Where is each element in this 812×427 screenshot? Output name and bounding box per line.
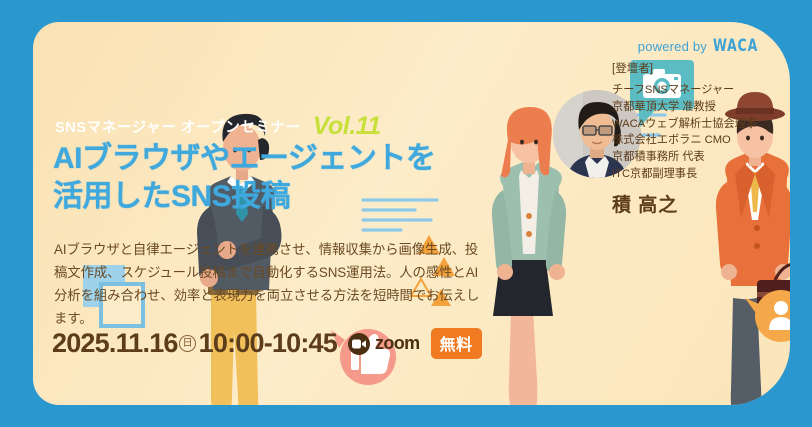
seminar-kicker: SNSマネージャー オープンセミナー Vol.11	[55, 112, 381, 141]
credential-item: チーフSNSマネージャー	[612, 82, 772, 99]
speaker-credentials: チーフSNSマネージャー 京都華頂大学 准教授 WACAウェブ解析士協会理事 株…	[612, 82, 772, 183]
price-badge: 無料	[431, 328, 482, 359]
zoom-wordmark: zoom	[375, 333, 420, 354]
content-card: powered by WACA	[33, 22, 790, 405]
speaker-section-label: [登壇者]	[612, 60, 772, 76]
speaker-info: [登壇者] チーフSNSマネージャー 京都華頂大学 准教授 WACAウェブ解析士…	[612, 60, 772, 217]
event-date: 2025.11.16	[52, 328, 178, 359]
powered-by-label: powered by	[638, 39, 707, 54]
volume-number: Vol.11	[313, 112, 381, 141]
seminar-description: AIブラウザと自律エージェントを連携させ、情報収集から画像生成、投稿文作成、スケ…	[54, 238, 484, 330]
person-center-woman	[492, 107, 566, 405]
credential-item: 京都華頂大学 准教授	[612, 99, 772, 116]
credential-item: 株式会社エボラニ CMO	[612, 132, 772, 149]
powered-by-waca: powered by WACA	[638, 36, 768, 56]
credential-item: 京都積事務所 代表	[612, 149, 772, 166]
credential-item: WACAウェブ解析士協会理事	[612, 116, 772, 133]
event-schedule: 2025.11.16 日 10:00-10:45 zoom 無料	[52, 328, 482, 359]
event-datetime: 2025.11.16 日 10:00-10:45	[52, 328, 337, 359]
event-time: 10:00-10:45	[199, 328, 337, 359]
waca-logo-text: WACA	[713, 36, 758, 56]
day-of-week-badge: 日	[179, 335, 196, 352]
speaker-name: 積 高之	[612, 190, 772, 217]
video-camera-icon	[348, 333, 370, 355]
user-avatar-bubble-icon	[745, 290, 790, 342]
zoom-logo: zoom	[348, 333, 420, 355]
kicker-label: SNSマネージャー オープンセミナー	[55, 116, 301, 137]
seminar-banner: powered by WACA	[0, 0, 812, 427]
page-title: AIブラウザやエージェントを 活用したSNS投稿	[53, 140, 435, 217]
credential-item: ITC京都副理事長	[612, 166, 772, 183]
